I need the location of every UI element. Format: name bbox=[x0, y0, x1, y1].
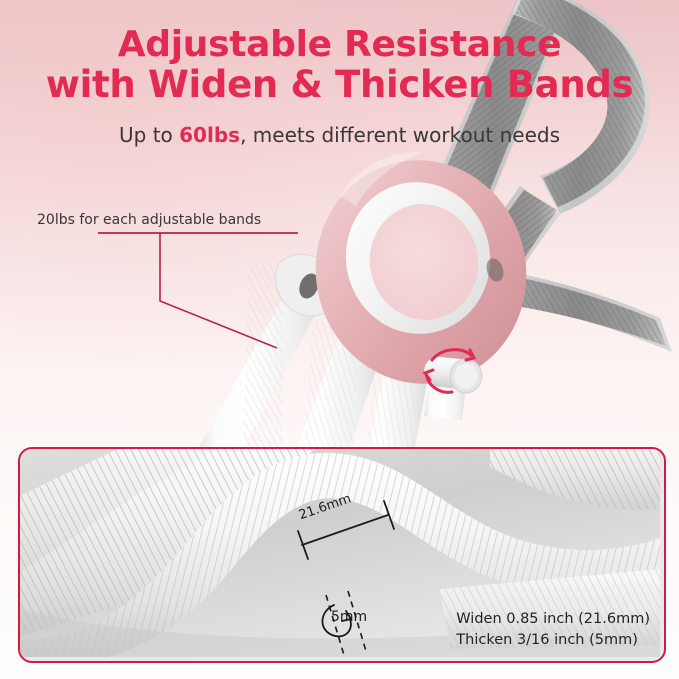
spec-text: Widen 0.85 inch (21.6mm) Thicken 3/16 in… bbox=[456, 609, 650, 651]
spec-line-thicken: Thicken 3/16 inch (5mm) bbox=[456, 630, 650, 651]
dimension-label-thickness: 5mm bbox=[331, 609, 367, 625]
subtitle-highlight: 60lbs bbox=[179, 123, 240, 147]
subtitle-prefix: Up to bbox=[119, 123, 179, 147]
spec-line-widen: Widen 0.85 inch (21.6mm) bbox=[456, 609, 650, 630]
product-feature-image: Adjustable Resistance with Widen & Thick… bbox=[0, 0, 679, 679]
macro-detail-panel: Widen 0.85 inch (21.6mm) Thicken 3/16 in… bbox=[18, 447, 666, 663]
headline-line-2: with Widen & Thicken Bands bbox=[0, 65, 679, 105]
headline-line-1: Adjustable Resistance bbox=[0, 26, 679, 65]
subtitle-suffix: , meets different workout needs bbox=[240, 123, 560, 147]
callout-20lbs: 20lbs for each adjustable bands bbox=[37, 212, 261, 228]
subtitle: Up to 60lbs, meets different workout nee… bbox=[0, 123, 679, 147]
headline: Adjustable Resistance with Widen & Thick… bbox=[0, 26, 679, 105]
